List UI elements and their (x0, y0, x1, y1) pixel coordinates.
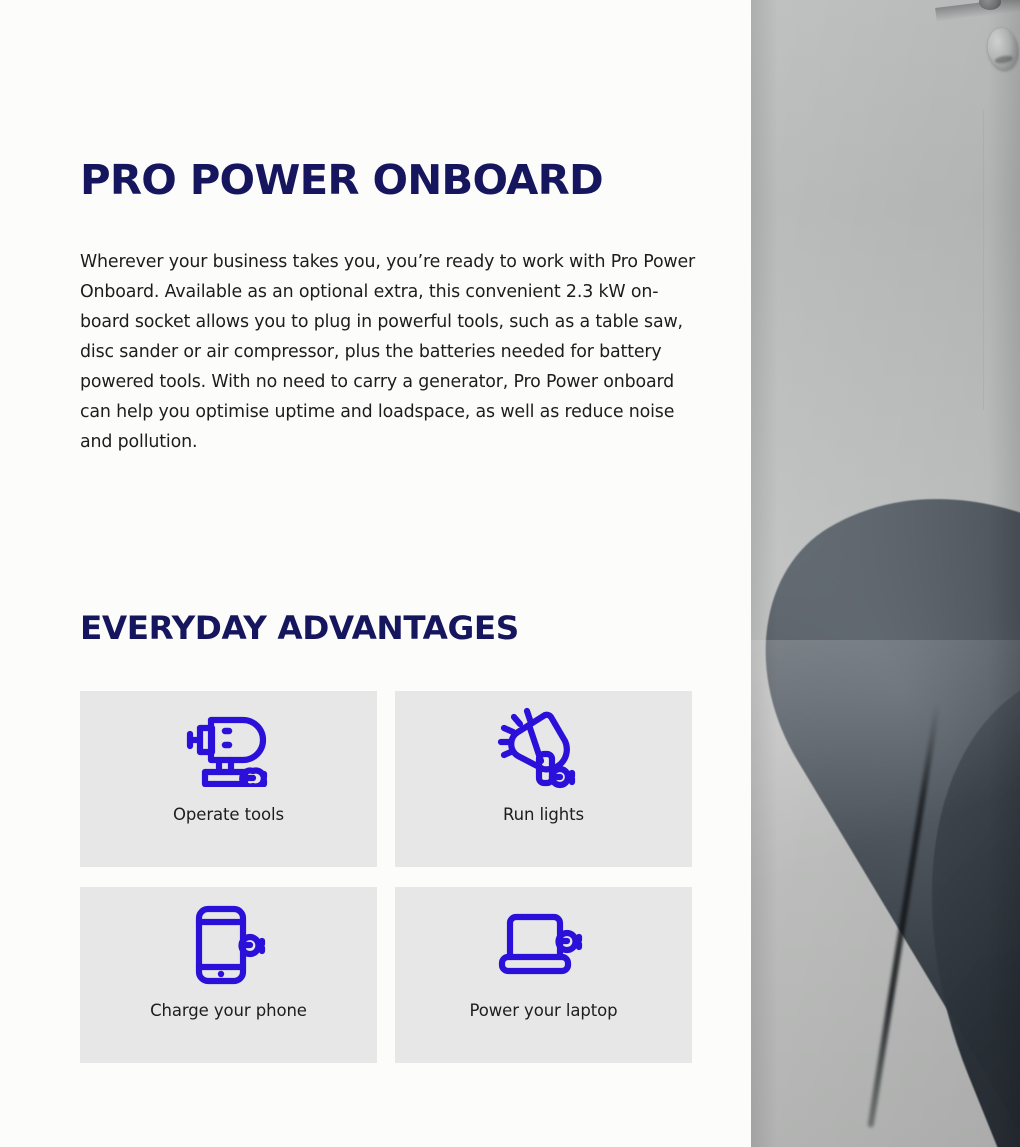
advantage-card-operate-tools[interactable]: Operate tools (80, 691, 377, 867)
advantage-card-run-lights[interactable]: Run lights (395, 691, 692, 867)
intro-paragraph: Wherever your business takes you, you’re… (80, 247, 698, 457)
advantages-heading: EVERYDAY ADVANTAGES (80, 612, 519, 644)
laptop-plug-icon (494, 893, 594, 997)
advantage-card-label: Power your laptop (470, 1003, 618, 1020)
smartphone-plug-icon (181, 893, 277, 997)
photo-panel-seam (983, 110, 984, 410)
advantage-card-power-laptop[interactable]: Power your laptop (395, 887, 692, 1063)
content-panel: PRO POWER ONBOARD Wherever your business… (0, 0, 751, 1147)
advantage-card-label: Charge your phone (150, 1003, 307, 1020)
advantages-grid: Operate tools (80, 691, 692, 1063)
work-light-icon (496, 697, 592, 801)
power-drill-icon (181, 697, 277, 801)
advantage-card-label: Run lights (503, 807, 584, 824)
advantage-card-charge-phone[interactable]: Charge your phone (80, 887, 377, 1063)
page-title: PRO POWER ONBOARD (80, 160, 603, 201)
van-interior-photo (751, 0, 1020, 1147)
advantage-card-label: Operate tools (173, 807, 284, 824)
page-root: PRO POWER ONBOARD Wherever your business… (0, 0, 1020, 1147)
